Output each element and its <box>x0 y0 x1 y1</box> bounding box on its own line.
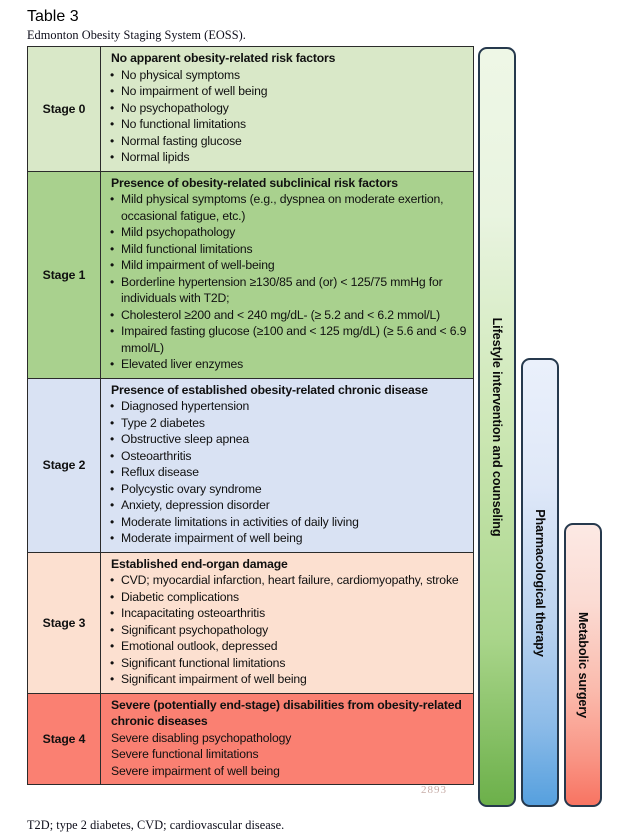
list-item: Type 2 diabetes <box>109 415 468 432</box>
stage-label: Stage 1 <box>28 171 101 378</box>
stage-heading: Presence of established obesity-related … <box>111 382 468 399</box>
stage-criteria-list: CVD; myocardial infarction, heart failur… <box>109 572 468 688</box>
list-item: Emotional outlook, depressed <box>109 638 468 655</box>
list-item: Anxiety, depression disorder <box>109 497 468 514</box>
list-item: Mild physical symptoms (e.g., dyspnea on… <box>109 191 468 224</box>
list-item: Cholesterol ≥200 and < 240 mg/dL- (≥ 5.2… <box>109 307 468 324</box>
stage-heading: Established end-organ damage <box>111 556 468 573</box>
list-item: Mild psychopathology <box>109 224 468 241</box>
stage-label: Stage 3 <box>28 552 101 693</box>
list-item: Diabetic complications <box>109 589 468 606</box>
stage-criteria-list: Severe disabling psychopathology Severe … <box>109 730 468 780</box>
list-item: Moderate impairment of well being <box>109 530 468 547</box>
table-row: Stage 4 Severe (potentially end-stage) d… <box>28 693 474 785</box>
table-row: Stage 0 No apparent obesity-related risk… <box>28 47 474 172</box>
stage-label: Stage 2 <box>28 378 101 552</box>
stage-heading: No apparent obesity-related risk factors <box>111 50 468 67</box>
table-row: Stage 2 Presence of established obesity-… <box>28 378 474 552</box>
stage-criteria-list: Mild physical symptoms (e.g., dyspnea on… <box>109 191 468 373</box>
list-item: Significant functional limitations <box>109 655 468 672</box>
therapy-escalation-bars: Lifestyle intervention and counseling Ph… <box>477 0 637 839</box>
stage-criteria-list: No physical symptoms No impairment of we… <box>109 67 468 166</box>
stage-content: Presence of obesity-related subclinical … <box>101 171 474 378</box>
list-item: Impaired fasting glucose (≥100 and < 125… <box>109 323 468 356</box>
list-item: Incapacitating osteoarthritis <box>109 605 468 622</box>
list-item: Polycystic ovary syndrome <box>109 481 468 498</box>
list-item: Osteoarthritis <box>109 448 468 465</box>
therapy-bar-pharmacological: Pharmacological therapy <box>521 358 559 807</box>
stage-heading: Presence of obesity-related subclinical … <box>111 175 468 192</box>
table-footnote: T2D; type 2 diabetes, CVD; cardiovascula… <box>27 818 284 833</box>
list-item: Borderline hypertension ≥130/85 and (or)… <box>109 274 468 307</box>
page-number-artifact: 2893 <box>421 786 447 793</box>
list-item: No functional limitations <box>109 116 468 133</box>
list-item: No physical symptoms <box>109 67 468 84</box>
stage-label: Stage 4 <box>28 693 101 785</box>
eoss-staging-table: Stage 0 No apparent obesity-related risk… <box>27 46 474 785</box>
therapy-bar-label: Metabolic surgery <box>576 612 590 718</box>
list-item: CVD; myocardial infarction, heart failur… <box>109 572 468 589</box>
list-item: Elevated liver enzymes <box>109 356 468 373</box>
stage-content: No apparent obesity-related risk factors… <box>101 47 474 172</box>
list-item: Reflux disease <box>109 464 468 481</box>
list-item: Significant psychopathology <box>109 622 468 639</box>
stage-criteria-list: Diagnosed hypertension Type 2 diabetes O… <box>109 398 468 547</box>
stage-heading: Severe (potentially end-stage) disabilit… <box>111 697 468 730</box>
list-item: Severe disabling psychopathology <box>109 730 468 747</box>
list-item: Normal fasting glucose <box>109 133 468 150</box>
stage-content: Severe (potentially end-stage) disabilit… <box>101 693 474 785</box>
list-item: Severe impairment of well being <box>109 763 468 780</box>
therapy-bar-label: Lifestyle intervention and counseling <box>490 318 504 537</box>
list-item: Obstructive sleep apnea <box>109 431 468 448</box>
list-item: Mild functional limitations <box>109 241 468 258</box>
table-row: Stage 1 Presence of obesity-related subc… <box>28 171 474 378</box>
stage-label: Stage 0 <box>28 47 101 172</box>
stage-content: Established end-organ damage CVD; myocar… <box>101 552 474 693</box>
therapy-bar-lifestyle: Lifestyle intervention and counseling <box>478 47 516 807</box>
list-item: Normal lipids <box>109 149 468 166</box>
stage-content: Presence of established obesity-related … <box>101 378 474 552</box>
list-item: No psychopathology <box>109 100 468 117</box>
therapy-bar-label: Pharmacological therapy <box>533 509 547 656</box>
table-row: Stage 3 Established end-organ damage CVD… <box>28 552 474 693</box>
list-item: Significant impairment of well being <box>109 671 468 688</box>
list-item: Severe functional limitations <box>109 746 468 763</box>
list-item: Mild impairment of well-being <box>109 257 468 274</box>
list-item: Moderate limitations in activities of da… <box>109 514 468 531</box>
list-item: Diagnosed hypertension <box>109 398 468 415</box>
list-item: No impairment of well being <box>109 83 468 100</box>
therapy-bar-metabolic-surgery: Metabolic surgery <box>564 523 602 807</box>
